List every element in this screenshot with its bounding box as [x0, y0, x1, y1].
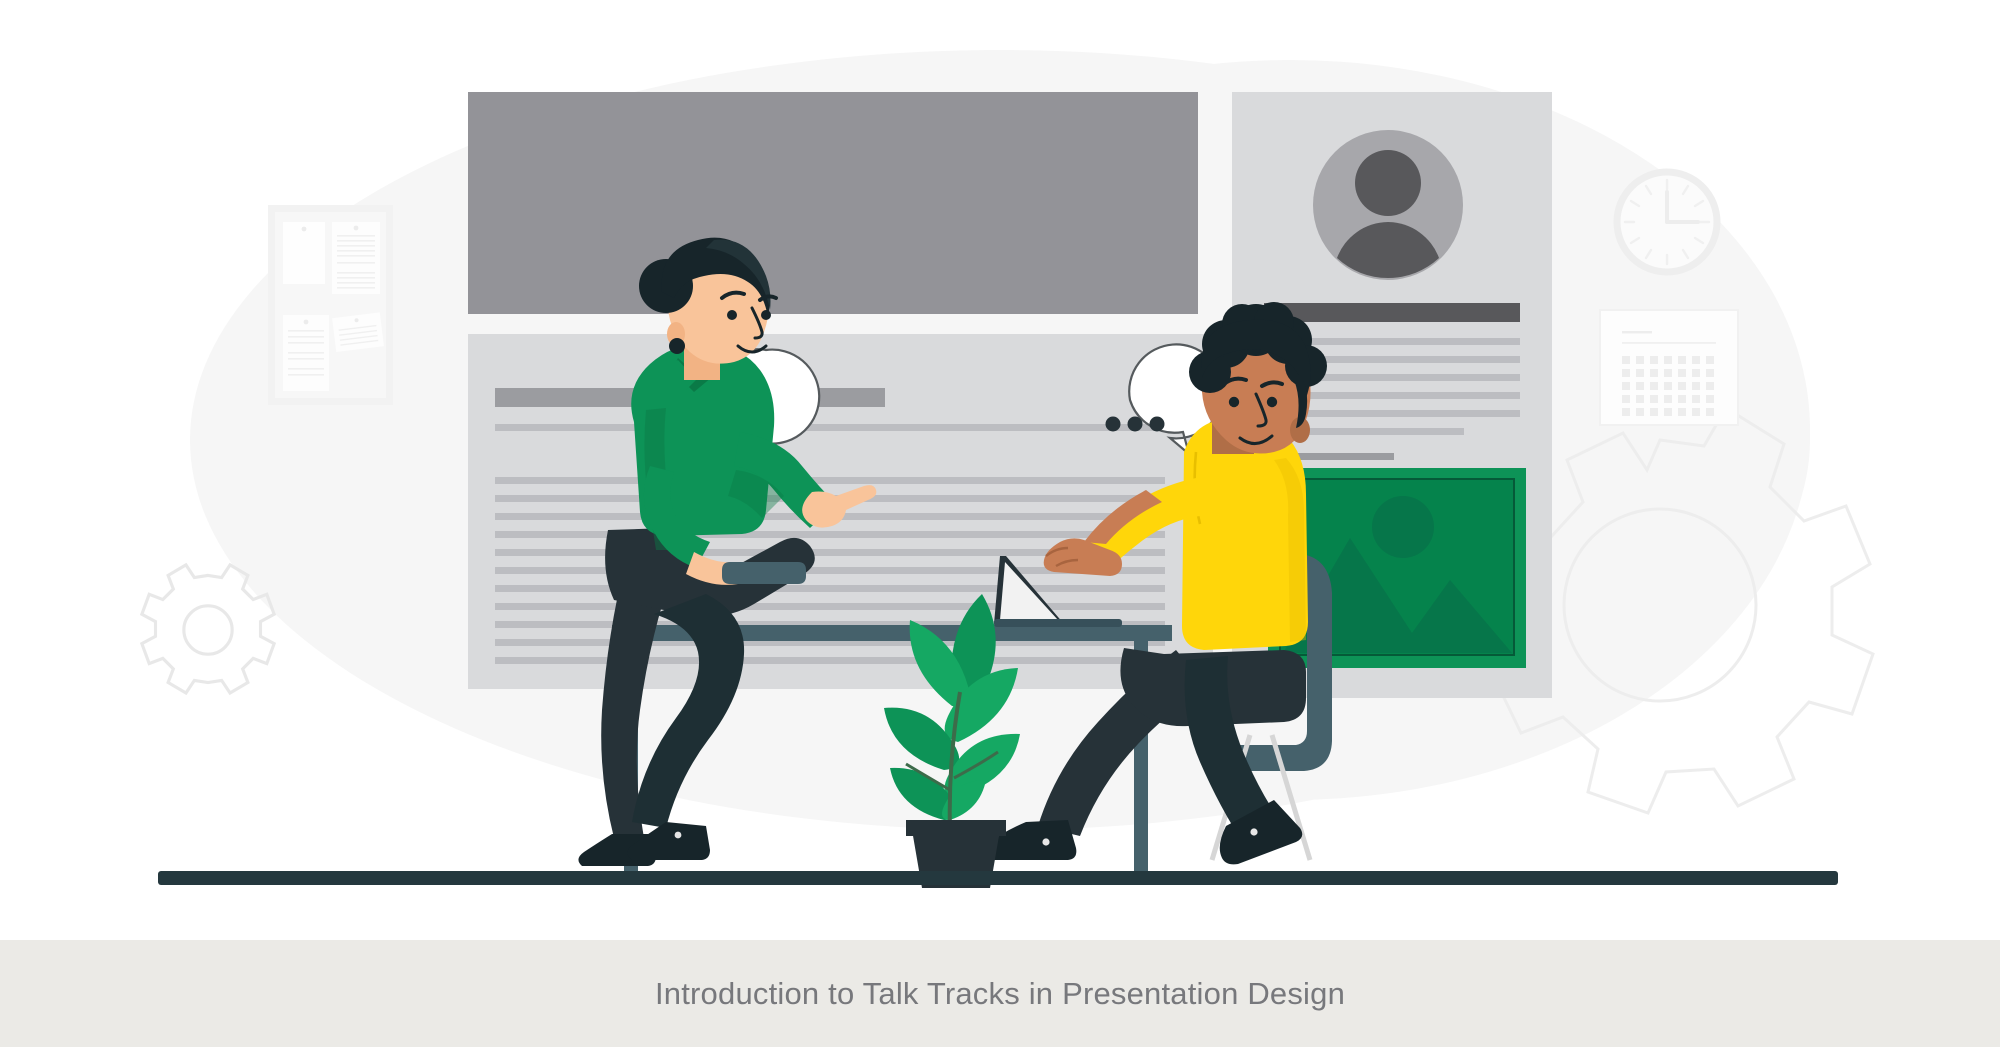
- caption-bar: Introduction to Talk Tracks in Presentat…: [0, 940, 2000, 1047]
- person-avatar-icon: [1313, 130, 1463, 280]
- wall-clock-decor: [1617, 172, 1717, 272]
- profile-name-bar: [1264, 303, 1520, 322]
- caption-text: Introduction to Talk Tracks in Presentat…: [655, 976, 1345, 1012]
- slide-header-panel: [468, 92, 1198, 314]
- illustration-svg: [0, 0, 2000, 940]
- ellipsis-icon: [1106, 417, 1165, 432]
- calendar-decor: [1600, 310, 1738, 425]
- bulletin-board-decor: [268, 205, 393, 405]
- floor-line: [158, 871, 1838, 885]
- illustration-canvas: [0, 0, 2000, 940]
- screenshot-root: Introduction to Talk Tracks in Presentat…: [0, 0, 2000, 1047]
